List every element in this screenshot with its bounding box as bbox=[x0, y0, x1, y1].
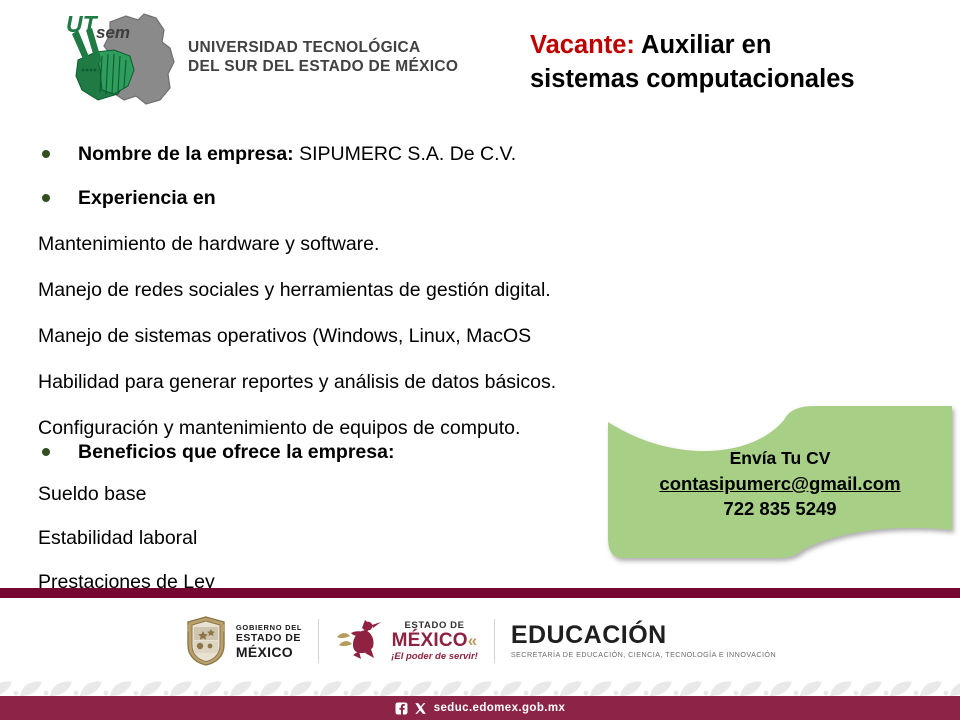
edomex-slogan: ¡El poder de servir! bbox=[391, 652, 478, 662]
hummingbird-icon bbox=[335, 617, 387, 665]
callout-phone: 722 835 5249 bbox=[600, 496, 960, 521]
gobierno-logo-text: GOBIERNO DEL ESTADO DE MÉXICO bbox=[236, 624, 302, 659]
educacion-subtitle: SECRETARÍA DE EDUCACIÓN, CIENCIA, TECNOL… bbox=[511, 651, 776, 658]
footer-divider-1 bbox=[318, 619, 319, 663]
svg-text:sem: sem bbox=[96, 23, 130, 42]
text-line: Mantenimiento de hardware y software. bbox=[0, 232, 379, 256]
footer-logo-strip: GOBIERNO DEL ESTADO DE MÉXICO bbox=[0, 604, 960, 678]
contact-callout-banner: Envía Tu CV contasipumerc@gmail.com 722 … bbox=[600, 398, 960, 570]
chevron-decor-icon: « bbox=[468, 631, 478, 650]
slide-header: UT sem UNIVERSIDAD TECNOLÓGICA DEL SUR D… bbox=[0, 0, 960, 120]
text-line: Sueldo base bbox=[0, 482, 146, 506]
bullet-value: SIPUMERC S.A. De C.V. bbox=[294, 143, 517, 165]
title-rest: Auxiliar en bbox=[635, 31, 772, 59]
callout-heading: Envía Tu CV bbox=[600, 446, 960, 471]
bullet-line: Beneficios que ofrece la empresa: bbox=[0, 440, 394, 464]
bullet-label: Experiencia en bbox=[78, 187, 216, 209]
edomex-logo-text: ESTADO DE MÉXICO« ¡El poder de servir! bbox=[391, 621, 478, 661]
decorative-pattern-band bbox=[0, 680, 960, 696]
bullet-label: Nombre de la empresa: bbox=[78, 143, 294, 165]
list-bullet-icon bbox=[42, 194, 50, 202]
university-name: UNIVERSIDAD TECNOLÓGICA DEL SUR DEL ESTA… bbox=[188, 38, 488, 76]
x-twitter-icon[interactable] bbox=[414, 702, 427, 715]
gobierno-line1: GOBIERNO DEL bbox=[236, 624, 302, 632]
gobierno-logo: GOBIERNO DEL ESTADO DE MÉXICO bbox=[184, 615, 302, 667]
text-line: Manejo de sistemas operativos (Windows, … bbox=[0, 324, 531, 348]
educacion-logo: EDUCACIÓN SECRETARÍA DE EDUCACIÓN, CIENC… bbox=[511, 623, 776, 658]
bullet-line: Experiencia en bbox=[0, 186, 216, 210]
footer-divider-2 bbox=[494, 619, 495, 663]
footer-social-bar: seduc.edomex.gob.mx bbox=[0, 696, 960, 720]
text-line: Manejo de redes sociales y herramientas … bbox=[0, 278, 551, 302]
text-line: Habilidad para generar reportes y anális… bbox=[0, 370, 556, 394]
gobierno-line2: ESTADO DE bbox=[236, 633, 302, 644]
callout-email[interactable]: contasipumerc@gmail.com bbox=[600, 471, 960, 496]
title-keyword: Vacante: bbox=[530, 31, 635, 59]
coat-of-arms-icon bbox=[184, 615, 228, 667]
educacion-title: EDUCACIÓN bbox=[511, 623, 776, 648]
facebook-icon[interactable] bbox=[395, 702, 408, 715]
title-line2: sistemas computacionales bbox=[530, 65, 855, 93]
university-name-line1: UNIVERSIDAD TECNOLÓGICA bbox=[188, 39, 421, 56]
svg-text:UT: UT bbox=[66, 11, 99, 37]
list-bullet-icon bbox=[42, 150, 50, 158]
page-title: Vacante: Auxiliar en sistemas computacio… bbox=[530, 28, 950, 96]
edomex-line2: MÉXICO« bbox=[391, 631, 478, 650]
bullet-label: Beneficios que ofrece la empresa: bbox=[78, 441, 394, 463]
utsem-logo-icon: UT sem bbox=[52, 8, 194, 110]
website-url[interactable]: seduc.edomex.gob.mx bbox=[434, 702, 566, 714]
contact-callout-text: Envía Tu CV contasipumerc@gmail.com 722 … bbox=[600, 446, 960, 521]
text-line: Configuración y mantenimiento de equipos… bbox=[0, 416, 520, 440]
list-bullet-icon bbox=[42, 448, 50, 456]
slide-canvas: UT sem UNIVERSIDAD TECNOLÓGICA DEL SUR D… bbox=[0, 0, 960, 720]
edomex-logo: ESTADO DE MÉXICO« ¡El poder de servir! bbox=[335, 617, 478, 665]
text-line: Estabilidad laboral bbox=[0, 526, 197, 550]
footer-top-rule bbox=[0, 588, 960, 598]
bullet-line: Nombre de la empresa: SIPUMERC S.A. De C… bbox=[0, 142, 516, 166]
university-name-line2: DEL SUR DEL ESTADO DE MÉXICO bbox=[188, 57, 488, 76]
gobierno-line3: MÉXICO bbox=[236, 645, 302, 659]
